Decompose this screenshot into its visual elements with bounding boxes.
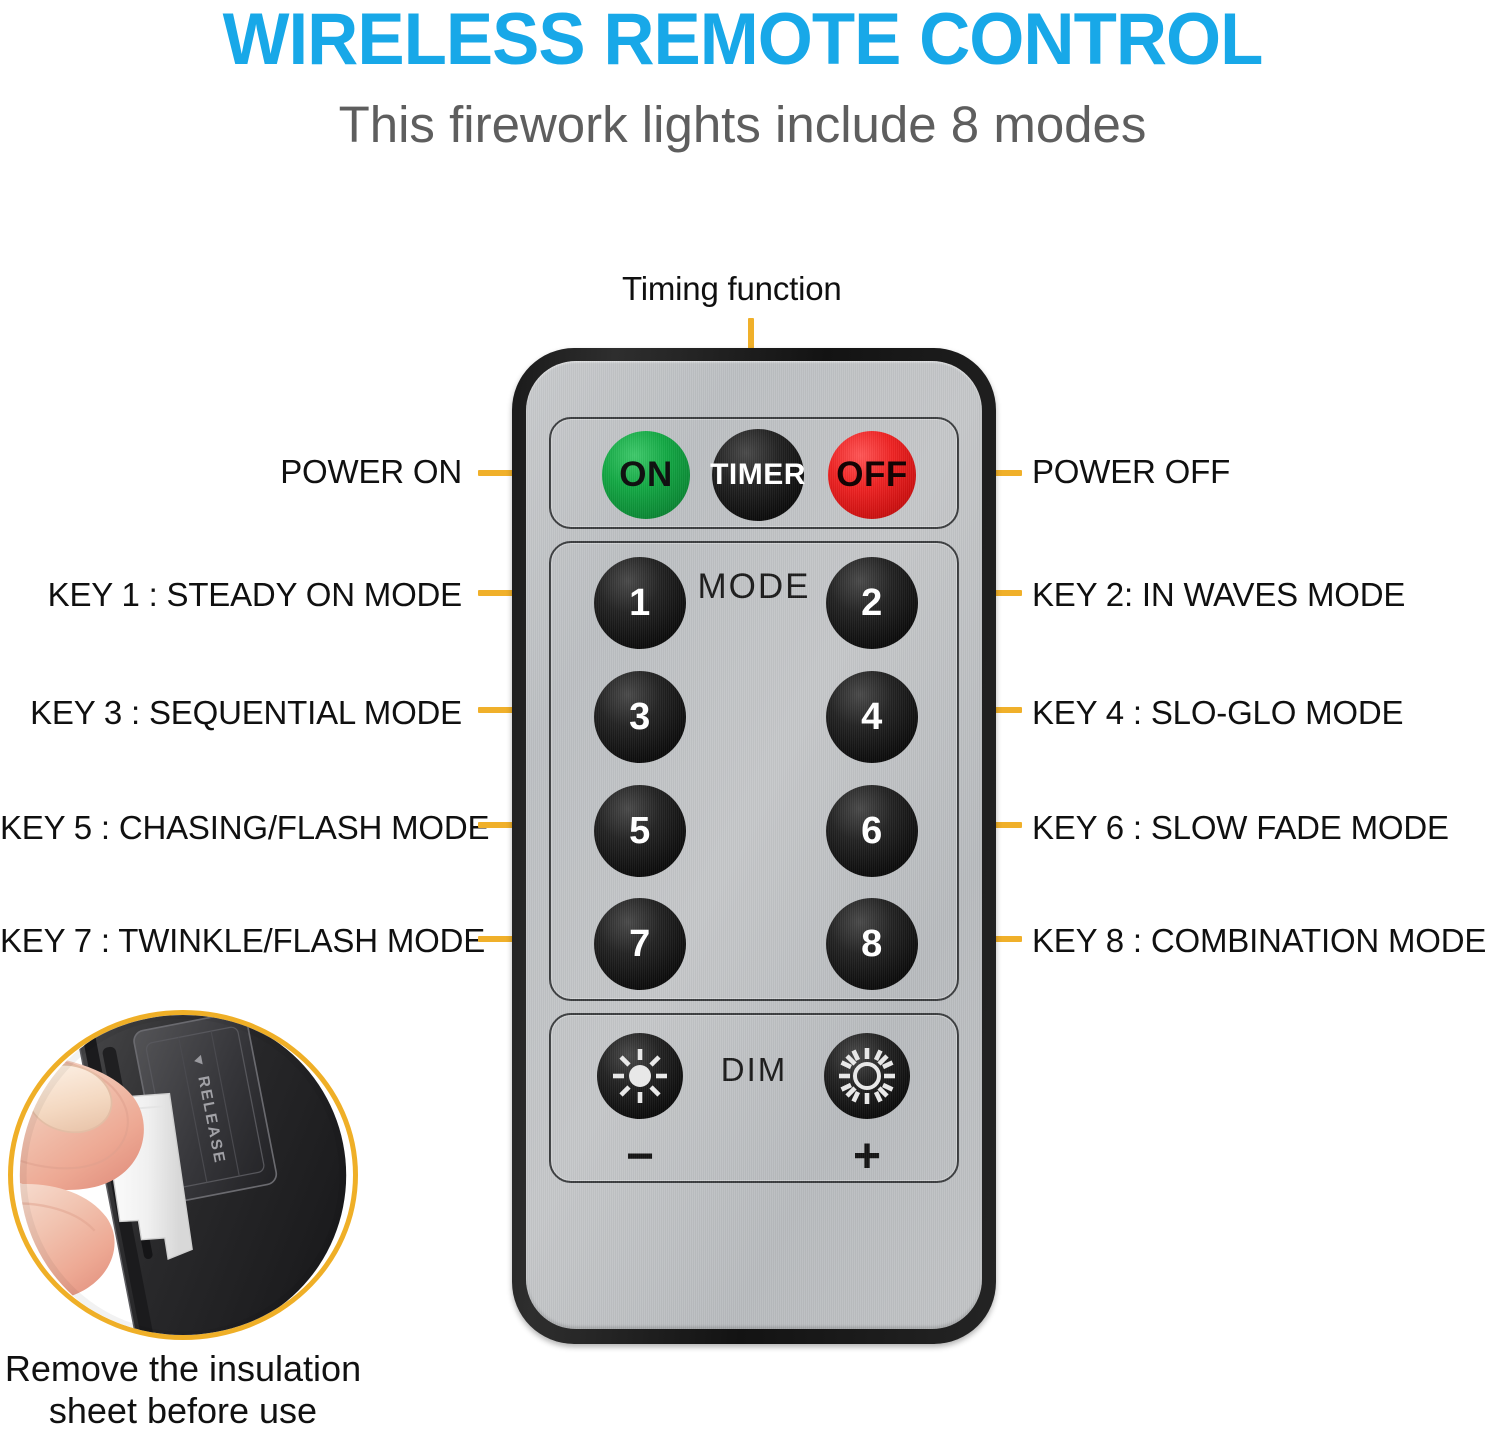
brightness-down-icon <box>610 1046 670 1106</box>
callout-key-3: KEY 3 : SEQUENTIAL MODE <box>0 696 462 729</box>
power-off-label: OFF <box>836 455 907 495</box>
callout-key-5: KEY 5 : CHASING/FLASH MODE <box>0 811 462 844</box>
callout-key-2: KEY 2: IN WAVES MODE <box>1032 578 1405 611</box>
mode-key-5-button[interactable]: 5 <box>594 785 686 877</box>
remote-faceplate: ON TIMER OFF MODE 1 2 3 4 <box>526 361 982 1329</box>
power-on-button[interactable]: ON <box>602 431 690 519</box>
power-off-button[interactable]: OFF <box>828 431 916 519</box>
insulation-sheet-photo: RELEASE <box>8 1010 358 1340</box>
inset-caption-line-1: Remove the insulation <box>0 1348 366 1390</box>
mode-key-4-button[interactable]: 4 <box>826 671 918 763</box>
mode-key-7-button[interactable]: 7 <box>594 898 686 990</box>
mode-key-2-label: 2 <box>861 582 883 625</box>
callout-key-7: KEY 7 : TWINKLE/FLASH MODE <box>0 924 462 957</box>
mode-key-5-label: 5 <box>629 810 651 853</box>
inset-caption: Remove the insulation sheet before use <box>0 1348 366 1433</box>
callout-key-8: KEY 8 : COMBINATION MODE <box>1032 924 1485 957</box>
callout-power-off: POWER OFF <box>1032 455 1230 488</box>
dim-panel: DIM <box>549 1013 959 1183</box>
callout-timing-function: Timing function <box>622 272 842 305</box>
mode-key-2-button[interactable]: 2 <box>826 557 918 649</box>
mode-key-3-button[interactable]: 3 <box>594 671 686 763</box>
insulation-sheet-illustration: RELEASE <box>13 1015 353 1336</box>
mode-key-6-button[interactable]: 6 <box>826 785 918 877</box>
timer-button[interactable]: TIMER <box>712 429 804 521</box>
dim-plus-sign: + <box>824 1133 910 1181</box>
mode-key-1-label: 1 <box>629 582 651 625</box>
page-subtitle: This firework lights include 8 modes <box>0 97 1485 153</box>
mode-key-7-label: 7 <box>629 923 651 966</box>
callout-key-1: KEY 1 : STEADY ON MODE <box>0 578 462 611</box>
mode-key-6-label: 6 <box>861 810 883 853</box>
power-on-label: ON <box>619 455 673 495</box>
dim-down-button[interactable] <box>597 1033 683 1119</box>
mode-key-3-label: 3 <box>629 696 651 739</box>
mode-key-1-button[interactable]: 1 <box>594 557 686 649</box>
callout-key-6: KEY 6 : SLOW FADE MODE <box>1032 811 1449 844</box>
dim-minus-sign: − <box>597 1133 683 1181</box>
page-title: WIRELESS REMOTE CONTROL <box>22 2 1462 79</box>
mode-panel: MODE 1 2 3 4 5 6 7 8 <box>549 541 959 1001</box>
dim-up-button[interactable] <box>824 1033 910 1119</box>
mode-key-8-button[interactable]: 8 <box>826 898 918 990</box>
power-panel: ON TIMER OFF <box>549 417 959 529</box>
brightness-up-icon <box>837 1046 897 1106</box>
mode-key-4-label: 4 <box>861 696 883 739</box>
callout-power-on: POWER ON <box>0 455 462 488</box>
timer-label: TIMER <box>710 458 806 492</box>
callout-key-4: KEY 4 : SLO-GLO MODE <box>1032 696 1403 729</box>
mode-key-8-label: 8 <box>861 923 883 966</box>
inset-caption-line-2: sheet before use <box>0 1390 366 1432</box>
remote-control-body: ON TIMER OFF MODE 1 2 3 4 <box>512 348 996 1344</box>
